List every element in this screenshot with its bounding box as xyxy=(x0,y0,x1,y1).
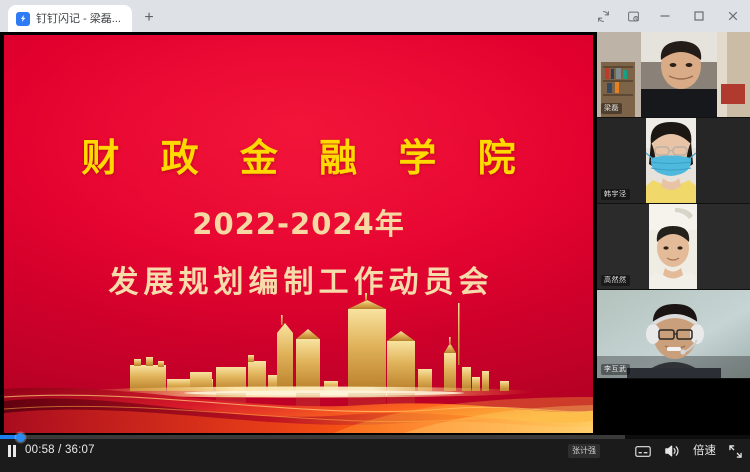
presentation-slide: 财 政 金 融 学 院 2022-2024年 发展规划编制工作动员会 xyxy=(4,35,593,433)
participant-rail: 梁磊 xyxy=(597,32,750,435)
subtitles-icon[interactable] xyxy=(635,443,651,459)
tab-strip: 钉钉闪记 - 梁磊... + xyxy=(0,0,162,32)
active-speaker-label: 张计强 xyxy=(568,444,600,458)
playback-speed-button[interactable]: 倍速 xyxy=(693,443,716,459)
progress-handle[interactable] xyxy=(16,433,25,442)
new-tab-button[interactable]: + xyxy=(136,5,162,31)
sync-icon[interactable] xyxy=(588,1,618,31)
progress-bar[interactable] xyxy=(0,435,750,439)
fullscreen-icon[interactable] xyxy=(729,443,742,459)
participant-tile[interactable]: 梁磊 xyxy=(597,32,750,118)
time-display: 00:58 / 36:07 xyxy=(25,444,95,457)
browser-tab-active[interactable]: 钉钉闪记 - 梁磊... xyxy=(8,5,132,32)
participant-name: 梁磊 xyxy=(601,103,622,114)
slide-title: 财 政 金 融 学 院 xyxy=(4,127,593,182)
skyline-artwork xyxy=(4,293,593,433)
player-right-controls: 张计强 倍速 xyxy=(568,443,742,459)
pause-icon[interactable] xyxy=(5,444,18,457)
meeting-replay-page: 财 政 金 融 学 院 2022-2024年 发展规划编制工作动员会 xyxy=(0,32,750,472)
participant-tile[interactable]: 韩宇泾 xyxy=(597,118,750,204)
browser-window: 钉钉闪记 - 梁磊... + xyxy=(0,0,750,472)
participant-name: 李互武 xyxy=(601,364,630,375)
close-icon[interactable] xyxy=(716,1,750,31)
slide-year: 2022-2024年 xyxy=(4,201,593,243)
participant-name: 高然然 xyxy=(601,275,630,286)
minimize-icon[interactable] xyxy=(648,1,682,31)
participant-tile[interactable]: 高然然 xyxy=(597,204,750,290)
slide-subtitle: 发展规划编制工作动员会 xyxy=(4,257,593,301)
tab-title: 钉钉闪记 - 梁磊... xyxy=(36,12,121,26)
dingtalk-icon xyxy=(16,12,30,26)
player-left-controls: 00:58 / 36:07 xyxy=(5,444,95,457)
player-control-bar: 00:58 / 36:07 张计强 xyxy=(0,435,750,472)
progress-buffer xyxy=(0,435,625,439)
history-clock-icon[interactable] xyxy=(618,1,648,31)
window-controls xyxy=(588,0,750,32)
rail-empty-space xyxy=(597,379,750,435)
browser-titlebar: 钉钉闪记 - 梁磊... + xyxy=(0,0,750,32)
maximize-icon[interactable] xyxy=(682,1,716,31)
volume-icon[interactable] xyxy=(664,443,680,459)
participant-name: 韩宇泾 xyxy=(601,189,630,200)
participant-tile[interactable]: 李互武 xyxy=(597,290,750,379)
video-stage[interactable]: 财 政 金 融 学 院 2022-2024年 发展规划编制工作动员会 xyxy=(0,32,597,435)
